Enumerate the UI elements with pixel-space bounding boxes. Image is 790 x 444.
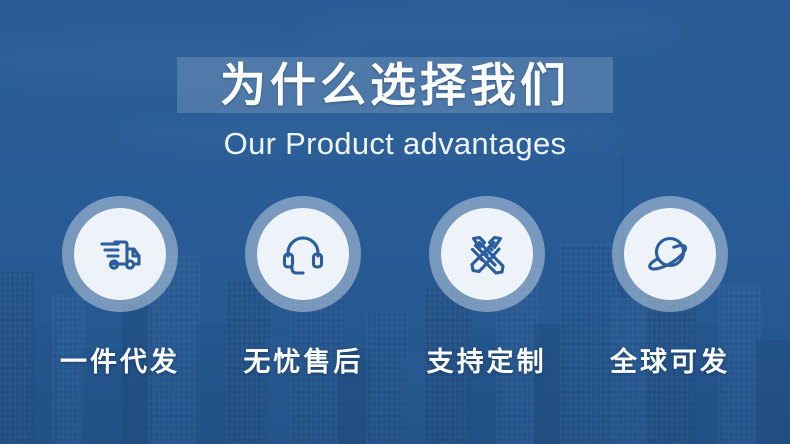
page-title: 为什么选择我们 <box>0 55 790 115</box>
page-subtitle: Our Product advantages <box>0 124 790 164</box>
icon-circle <box>62 196 178 312</box>
icon-circle <box>612 196 728 312</box>
pencil-ruler-icon <box>459 226 515 282</box>
icon-disc <box>624 208 716 300</box>
promo-banner: 为什么选择我们 Our Product advantages <box>0 0 790 444</box>
delivery-truck-icon <box>92 226 148 282</box>
feature-label: 全球可发 <box>610 340 730 379</box>
feature-item-dropshipping[interactable]: 一件代发 <box>30 196 210 396</box>
icon-circle <box>245 196 361 312</box>
feature-item-global-shipping[interactable]: 全球可发 <box>580 196 760 396</box>
feature-label: 支持定制 <box>427 340 547 379</box>
icon-disc <box>257 208 349 300</box>
headset-support-icon <box>275 226 331 282</box>
feature-label: 一件代发 <box>60 340 180 379</box>
planet-globe-icon <box>642 226 698 282</box>
feature-list: 一件代发 无忧售后 <box>0 196 790 396</box>
feature-item-after-sales[interactable]: 无忧售后 <box>213 196 393 396</box>
icon-disc <box>441 208 533 300</box>
feature-item-customization[interactable]: 支持定制 <box>397 196 577 396</box>
icon-circle <box>429 196 545 312</box>
icon-disc <box>74 208 166 300</box>
feature-label: 无忧售后 <box>243 340 363 379</box>
